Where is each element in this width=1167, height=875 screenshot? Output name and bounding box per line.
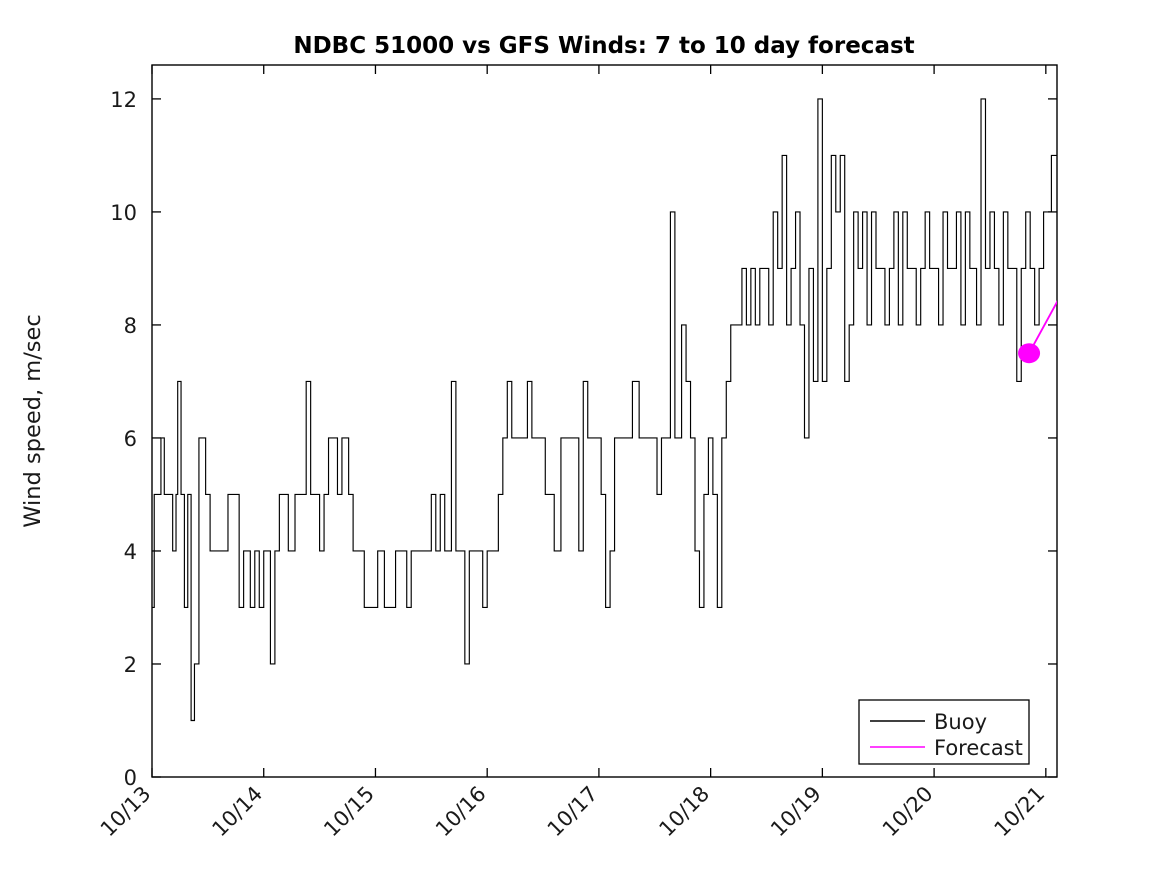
wind-speed-chart: NDBC 51000 vs GFS Winds: 7 to 10 day for… (0, 0, 1167, 875)
y-tick-label: 6 (124, 427, 137, 451)
forecast-start-marker (1018, 343, 1040, 363)
y-tick-label: 8 (124, 314, 137, 338)
y-axis-label: Wind speed, m/sec (20, 314, 46, 527)
y-tick-label: 12 (110, 88, 137, 112)
legend-label-forecast: Forecast (934, 736, 1023, 760)
legend-label-buoy: Buoy (934, 710, 987, 734)
chart-title: NDBC 51000 vs GFS Winds: 7 to 10 day for… (293, 33, 914, 59)
y-tick-label: 10 (110, 201, 137, 225)
y-tick-label: 4 (124, 540, 137, 564)
chart-legend[interactable]: Buoy Forecast (859, 700, 1029, 764)
y-tick-label: 2 (124, 653, 137, 677)
chart-figure: NDBC 51000 vs GFS Winds: 7 to 10 day for… (0, 0, 1167, 875)
